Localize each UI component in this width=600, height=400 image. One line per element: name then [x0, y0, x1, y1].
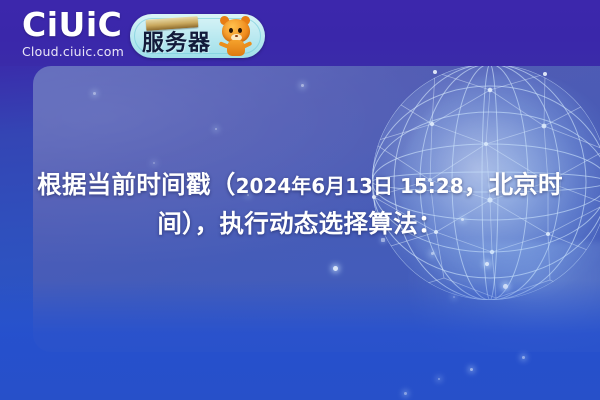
headline-text: 根据当前时间戳（2024年6月13日 15:28，北京时间），执行动态选择算法： [36, 166, 564, 243]
particle-dot [438, 378, 440, 380]
headline-timezone-separator: ， [464, 170, 489, 199]
particle-dot [333, 266, 338, 271]
headline-suffix: ），执行动态选择算法： [182, 209, 443, 238]
tiger-mascot-icon [217, 19, 257, 57]
particle-dot [470, 368, 473, 371]
particle-dot [485, 262, 489, 266]
brand-logo-tagline: Cloud.ciuic.com [22, 44, 124, 59]
headline-prefix: 根据当前时间戳（ [37, 170, 235, 199]
particle-dot [404, 392, 407, 395]
background-bottom-glow [0, 280, 600, 400]
particle-dot [153, 162, 155, 164]
brand-logo-text: CiUiC [22, 8, 124, 41]
brand-logo[interactable]: CiUiC Cloud.ciuic.com [22, 8, 124, 59]
server-badge: 服务器 [130, 14, 265, 58]
particle-dot [301, 84, 304, 87]
particle-dot [431, 252, 434, 255]
particle-dot [93, 92, 96, 95]
banner-image: CiUiC Cloud.ciuic.com 服务器 根据当前时间戳（2024年6… [0, 0, 600, 400]
particle-dot [215, 128, 217, 130]
headline-timestamp-date: 2024年6月13日 [236, 174, 393, 198]
badge-label: 服务器 [142, 25, 211, 57]
particle-dot [522, 356, 525, 359]
headline-timestamp-time: 15:28 [400, 174, 464, 198]
